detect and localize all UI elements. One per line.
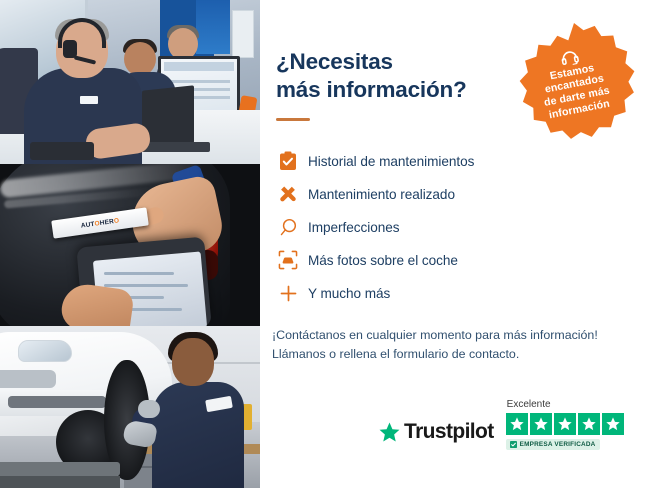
poster-secondary-shape [232, 10, 254, 58]
feature-list: Historial de mantenimientos Mantenimient… [272, 145, 650, 310]
contact-line-1: ¡Contáctanos en cualquier momento para m… [272, 326, 650, 345]
trustpilot-wordmark: Trustpilot [404, 420, 494, 444]
title-divider [276, 118, 310, 121]
trustpilot-stars [506, 413, 624, 435]
tablet-row-shape [104, 284, 188, 287]
trustpilot-rating-label: Excelente [507, 399, 551, 410]
contact-line-2: Llámanos o rellena el formulario de cont… [272, 345, 650, 364]
poster-shape [196, 0, 230, 54]
promo-banner: AUTOHERO [0, 0, 650, 488]
monitor-toolbar-shape [164, 62, 234, 71]
support-badge: Estamos encantados de darte más informac… [512, 20, 636, 144]
trustpilot-star-icon [378, 421, 401, 444]
star-filled [506, 413, 528, 435]
car-inspection-ruler-photo: AUTOHERO [0, 164, 260, 326]
clipboard-check-icon [272, 151, 304, 171]
grille-shape [0, 370, 56, 388]
tablet-row-shape [104, 272, 174, 275]
page-title-line-1: ¿Necesitas [276, 48, 516, 76]
call-center-agents-photo [0, 0, 260, 164]
feature-item-imperfections: Imperfecciones [272, 211, 650, 244]
trustpilot-logo[interactable]: Trustpilot [378, 420, 494, 450]
monitor-row-shape [166, 80, 230, 83]
technician-head-shape [172, 338, 214, 386]
tablet-on-desk-shape [30, 142, 94, 160]
lift-base-shape [0, 476, 120, 488]
technician-glove-upper-shape [138, 400, 160, 418]
person-mid-head-shape [124, 42, 156, 76]
starburst-shape [512, 20, 636, 144]
star-filled [578, 413, 600, 435]
verified-check-icon [510, 441, 517, 448]
star-filled [554, 413, 576, 435]
name-badge-shape [80, 96, 98, 104]
autohero-ruler-label: AUTOHERO [80, 217, 119, 229]
feature-item-maintenance-done: Mantenimiento realizado [272, 178, 650, 211]
star-filled [602, 413, 624, 435]
trustpilot-rating: Excelente EMPRESA VERIFICADA [506, 399, 624, 450]
magnifier-icon [272, 218, 304, 237]
star-filled [530, 413, 552, 435]
plus-icon [272, 284, 304, 303]
feature-label: Mantenimiento realizado [308, 187, 455, 202]
tools-icon [272, 184, 304, 204]
verified-company-badge: EMPRESA VERIFICADA [506, 439, 601, 450]
lift-arm-shape [0, 462, 120, 476]
content-column: ¿Necesitas más información? Estamos enca… [260, 0, 650, 488]
feature-item-maintenance-history: Historial de mantenimientos [272, 145, 650, 178]
page-title-line-2: más información? [276, 76, 516, 104]
car-frame-icon [272, 250, 304, 270]
feature-item-more-photos: Más fotos sobre el coche [272, 244, 650, 277]
feature-item-much-more: Y mucho más [272, 277, 650, 310]
verified-company-label: EMPRESA VERIFICADA [520, 441, 596, 448]
contact-paragraph: ¡Contáctanos en cualquier momento para m… [272, 326, 650, 364]
feature-label: Y mucho más [308, 286, 390, 301]
feature-label: Historial de mantenimientos [308, 154, 474, 169]
feature-label: Imperfecciones [308, 220, 399, 235]
page-title: ¿Necesitas más información? [276, 48, 516, 104]
trustpilot-block[interactable]: Trustpilot Excelente EMPRESA VERIFICA [378, 399, 624, 450]
headlight-shape [18, 340, 72, 362]
air-intake-shape [8, 396, 106, 408]
feature-label: Más fotos sobre el coche [308, 253, 458, 268]
photo-column: AUTOHERO [0, 0, 260, 488]
technician-wheel-photo [0, 326, 260, 488]
